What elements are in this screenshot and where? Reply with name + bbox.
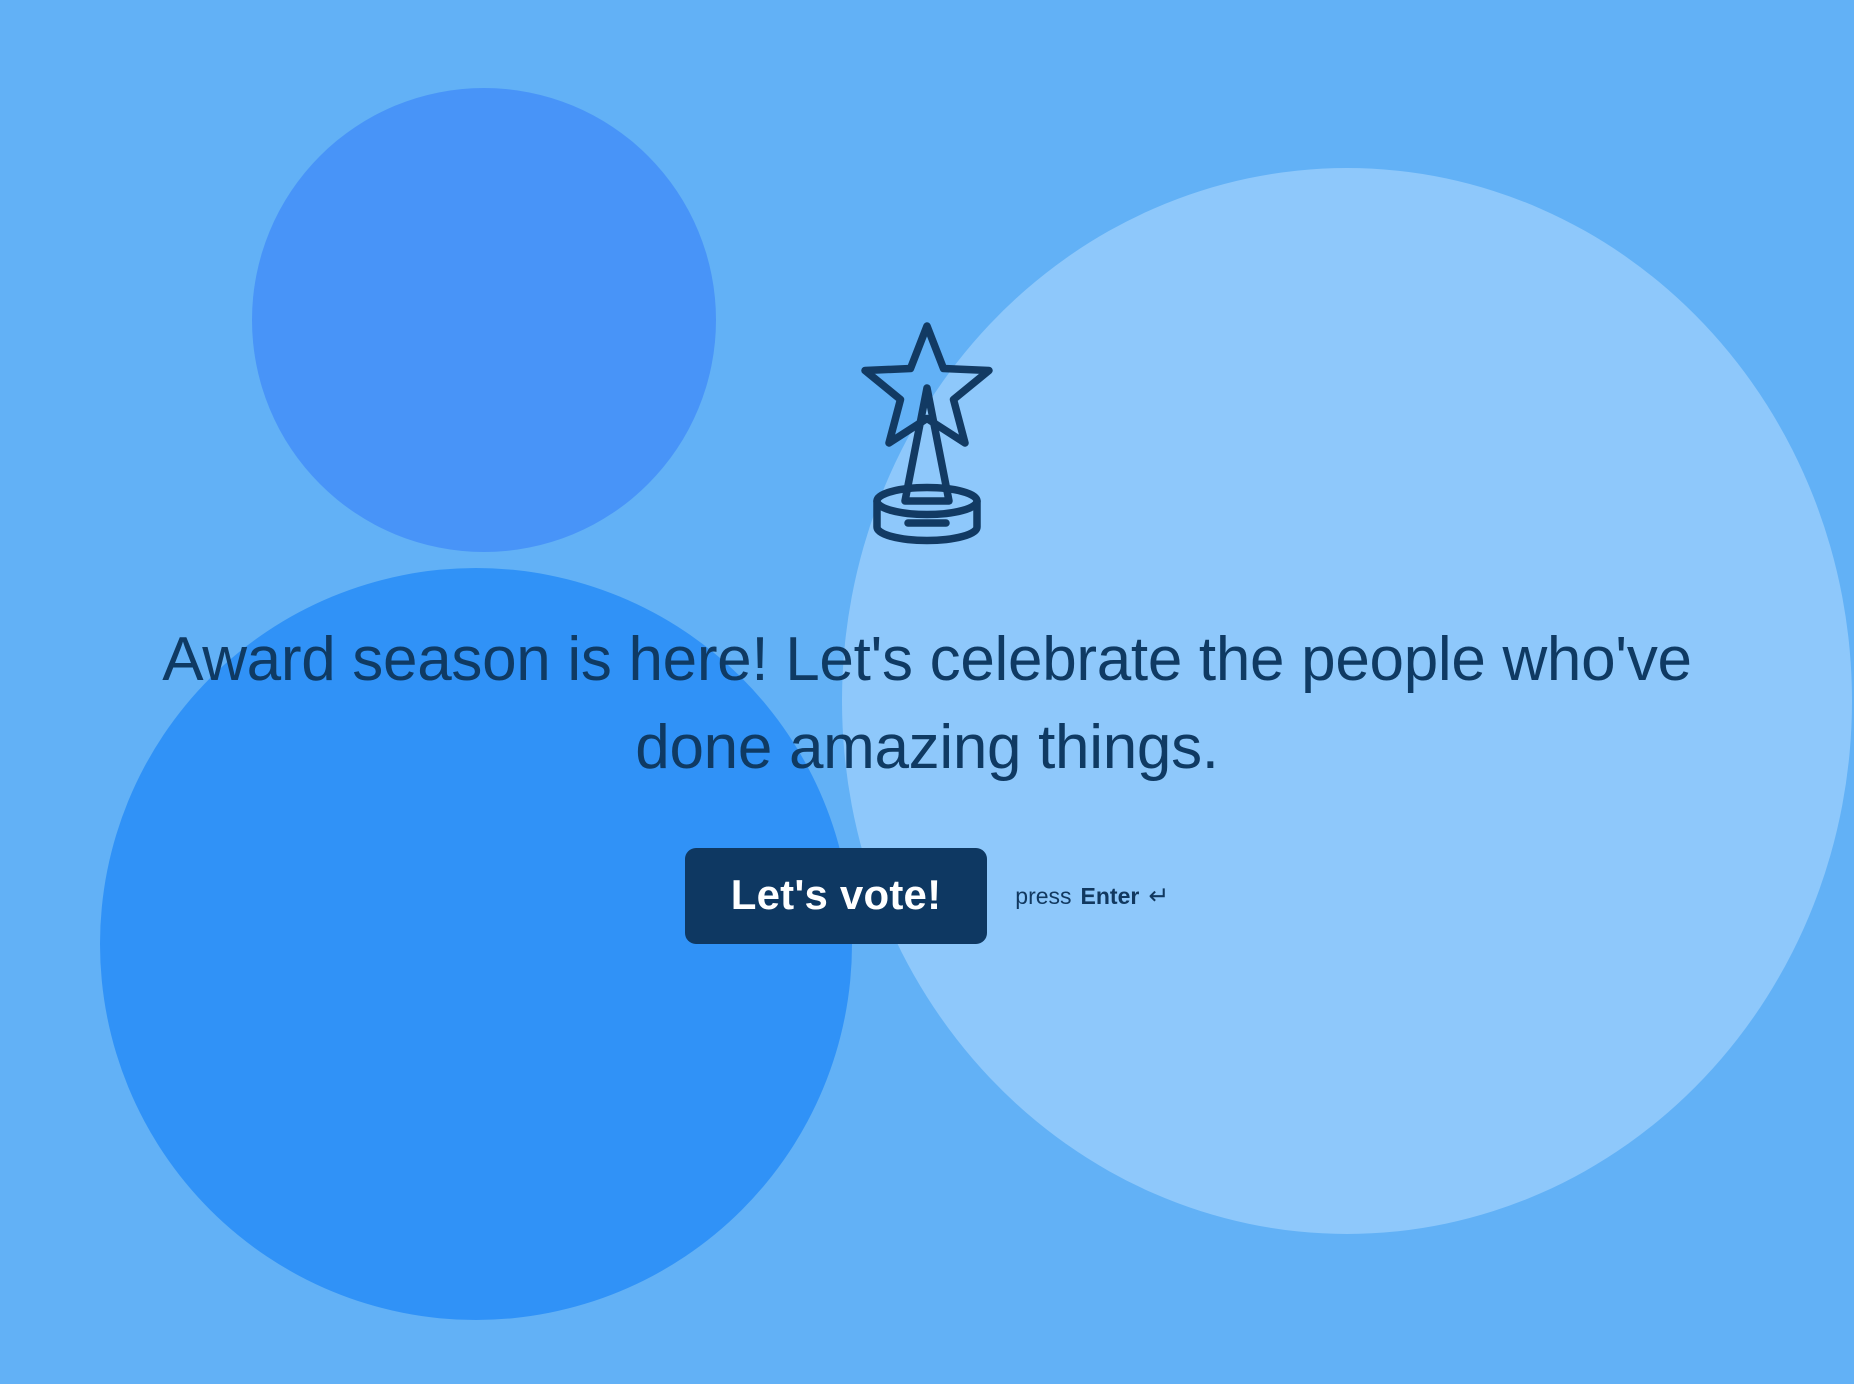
hint-prefix-label: press <box>1015 883 1071 910</box>
slide-content: Award season is here! Let's celebrate th… <box>0 0 1854 1384</box>
enter-return-icon: ↵ <box>1148 881 1169 911</box>
lets-vote-button[interactable]: Let's vote! <box>685 848 988 944</box>
page-title: Award season is here! Let's celebrate th… <box>147 616 1707 792</box>
award-trophy-icon <box>861 318 993 550</box>
action-row: Let's vote! press Enter ↵ <box>0 848 1854 944</box>
hint-key-label: Enter <box>1081 883 1140 910</box>
press-enter-hint: press Enter ↵ <box>1015 881 1169 911</box>
poll-slide: Award season is here! Let's celebrate th… <box>0 0 1854 1384</box>
